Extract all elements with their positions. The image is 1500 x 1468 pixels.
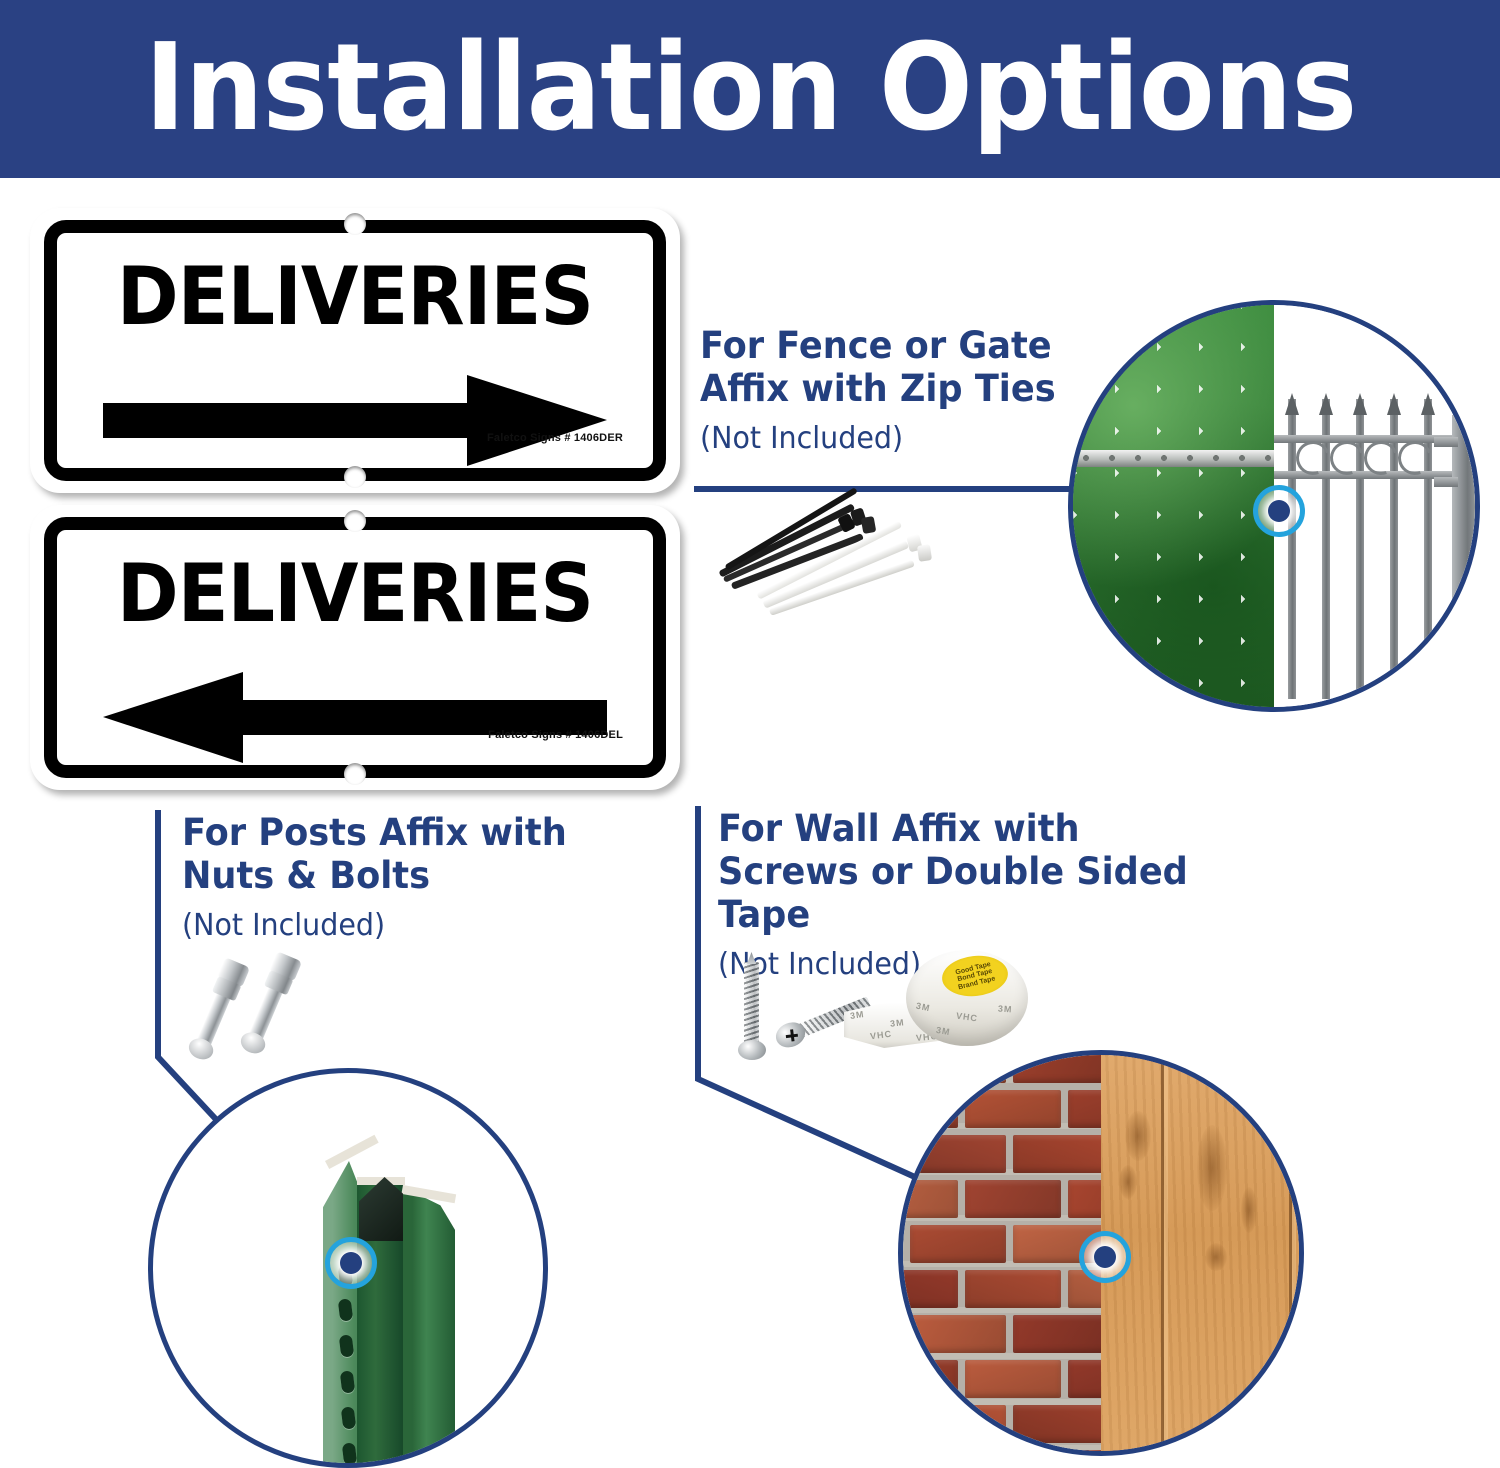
brick [965,1090,1061,1128]
post-cap-ball-icon [1452,391,1478,417]
brick [910,1405,1006,1443]
mounting-hole-bottom [344,466,366,488]
brick [898,1180,958,1218]
brick [898,1450,958,1456]
callout-posts: For Posts Affix with Nuts & Bolts (Not I… [182,812,602,941]
deliveries-right-sign: DELIVERIES Faletco Signs # 1406DER [30,208,680,493]
brick [898,1090,958,1128]
brick [910,1050,1006,1083]
brick [965,1180,1061,1218]
double-sided-tape-roll: 3M 3M 3M VHC VHC 3M VHC 3M 3M Good Tape … [844,950,1028,1068]
sign-arrow-left [103,670,607,765]
spear-finial-icon [1353,393,1367,415]
brick [898,1270,958,1308]
brick [898,1360,958,1398]
fence-photo-circle [1068,300,1480,712]
phillips-cross-icon [785,1029,798,1042]
sign-border: DELIVERIES Faletco Signs # 1406DER [44,220,666,481]
mounting-hole-bottom [344,763,366,785]
sign-text: DELIVERIES [78,257,632,337]
brick [1013,1405,1109,1443]
deliveries-left-sign: DELIVERIES Faletco Signs # 1406DEL [30,505,680,790]
callout-wall-title: For Wall Affix with Screws or Double Sid… [718,808,1288,937]
chain-link-fence-scene [1073,305,1274,707]
sign-text: DELIVERIES [78,554,632,634]
sign-border: DELIVERIES Faletco Signs # 1406DEL [44,517,666,778]
nuts-and-bolts-image [218,948,348,1058]
barbed-wire-strip [1073,450,1274,467]
spear-finial-icon [1319,393,1333,415]
callout-fence-note: (Not Included) [700,424,1061,454]
callout-fence: For Fence or Gate Affix with Zip Ties (N… [700,325,1080,454]
page-title: Installation Options [144,29,1356,149]
brick [1013,1135,1109,1173]
wall-photo-circle [898,1050,1304,1456]
spear-finial-icon [1421,393,1435,415]
callout-posts-title: For Posts Affix with Nuts & Bolts [182,812,581,898]
brick [910,1225,1006,1263]
ziptie-head [917,544,932,562]
post-photo-circle [148,1068,548,1468]
spear-finial-icon [1285,393,1299,415]
brick-wall-scene [903,1055,1101,1451]
brick [910,1135,1006,1173]
zip-ties-image [712,505,952,615]
spear-finial-icon [1387,393,1401,415]
u-channel-post-flange [403,1187,455,1468]
sign-credit: Faletco Signs # 1406DEL [488,729,623,741]
sign-arrow-right [103,373,607,468]
mount-point-target-wall [1079,1231,1131,1283]
brick [965,1450,1061,1456]
brick [910,1315,1006,1353]
brick [898,1225,903,1263]
screws-and-tape-image: 3M 3M 3M VHC VHC 3M VHC 3M 3M Good Tape … [718,948,1028,1068]
mounting-hole-top [344,213,366,235]
brick [1013,1050,1109,1083]
brick [898,1405,903,1443]
brick [898,1315,903,1353]
brick [1013,1315,1109,1353]
callout-posts-note: (Not Included) [182,911,581,941]
sign-credit: Faletco Signs # 1406DER [487,432,623,444]
ziptie-head [861,516,877,534]
brick [898,1135,903,1173]
brick [965,1270,1061,1308]
callout-fence-title: For Fence or Gate Affix with Zip Ties [700,325,1061,411]
header-banner: Installation Options [0,0,1500,178]
mount-point-target-fence [1253,485,1305,537]
mount-point-target-post [325,1237,377,1289]
mounting-hole-top [344,510,366,532]
brick [965,1360,1061,1398]
